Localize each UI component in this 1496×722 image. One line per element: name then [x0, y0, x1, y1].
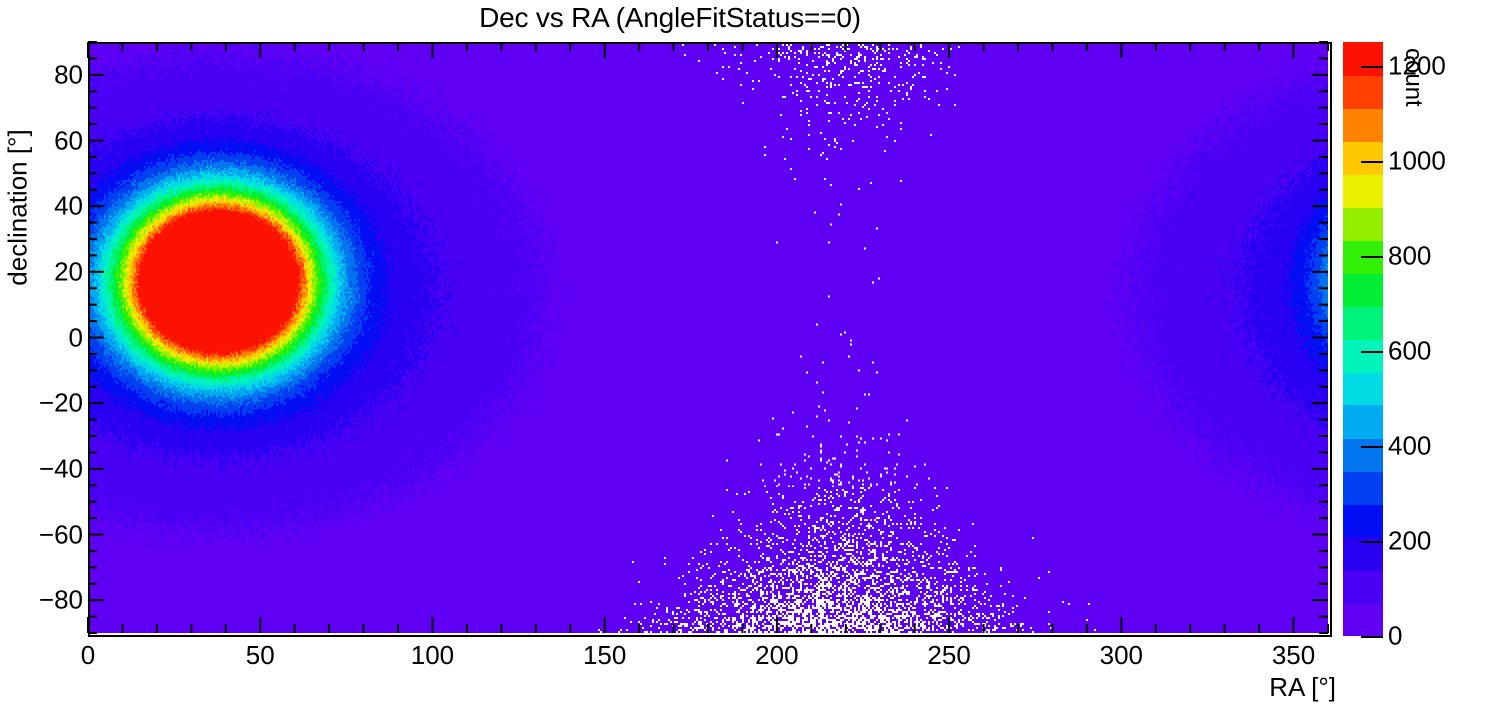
x-tick-label: 0 [81, 640, 95, 671]
colorbar-tick [1361, 446, 1383, 448]
y-tick-label: 80 [54, 59, 83, 90]
colorbar-tick-label: 600 [1388, 335, 1431, 366]
colorbar-tick [1361, 256, 1383, 258]
colorbar-tick [1361, 541, 1383, 543]
colorbar-tick [1361, 636, 1383, 638]
y-axis-title: declination [°] [3, 128, 34, 288]
colorbar-gradient [1343, 42, 1383, 636]
colorbar-tick [1361, 66, 1383, 68]
colorbar-tick [1361, 161, 1383, 163]
colorbar-tick-label: 0 [1388, 621, 1402, 652]
y-tick-label: 0 [69, 322, 83, 353]
colorbar [1343, 42, 1383, 636]
x-tick-label: 300 [1100, 640, 1143, 671]
y-tick-label: 40 [54, 191, 83, 222]
x-tick-label: 350 [1272, 640, 1315, 671]
y-tick-label: 20 [54, 256, 83, 287]
x-tick-label: 150 [583, 640, 626, 671]
x-tick-label: 50 [246, 640, 275, 671]
y-tick-label: −20 [39, 388, 83, 419]
x-axis-title: RA [°] [1269, 672, 1336, 703]
colorbar-tick-label: 1000 [1388, 145, 1446, 176]
histogram-image [88, 42, 1328, 633]
colorbar-tick-label: 800 [1388, 240, 1431, 271]
y-tick-label: −80 [39, 585, 83, 616]
x-tick-label: 250 [927, 640, 970, 671]
colorbar-tick-label: 200 [1388, 525, 1431, 556]
x-tick-label: 100 [411, 640, 454, 671]
y-tick-label: −40 [39, 453, 83, 484]
y-tick-label: 60 [54, 125, 83, 156]
colorbar-tick [1361, 351, 1383, 353]
x-tick-label: 200 [755, 640, 798, 671]
y-tick-label: −60 [39, 519, 83, 550]
colorbar-tick-label: 400 [1388, 430, 1431, 461]
page-title: Dec vs RA (AngleFitStatus==0) [0, 2, 1340, 34]
chart-canvas-root: Dec vs RA (AngleFitStatus==0) 0501001502… [0, 0, 1496, 722]
colorbar-title: count [1399, 48, 1427, 107]
